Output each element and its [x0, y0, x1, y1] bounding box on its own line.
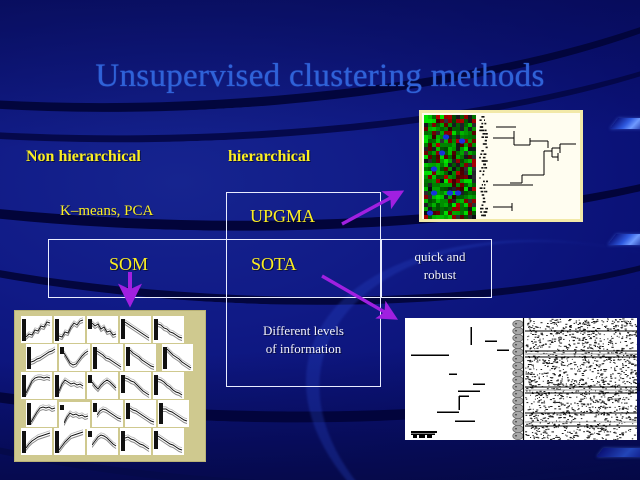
note-different-levels: Different levels of information — [232, 322, 375, 357]
som-cell — [54, 428, 85, 455]
heatmap-panel — [424, 115, 476, 219]
som-cell-profile — [97, 345, 123, 370]
som-cell-profile — [26, 429, 52, 454]
heatmap-cells — [424, 115, 476, 219]
som-cell — [153, 428, 184, 455]
som-cell — [120, 316, 151, 343]
som-cell — [54, 372, 85, 399]
som-cell — [120, 428, 151, 455]
figure-sota-tree — [405, 318, 637, 440]
figure-som-grid — [14, 310, 206, 462]
som-cell — [26, 344, 57, 371]
dendrogram-panel — [488, 115, 582, 219]
som-cell-profile — [167, 345, 193, 370]
note-levels-line1: Different levels — [232, 322, 375, 340]
som-cell — [125, 400, 156, 427]
som-cell — [153, 316, 184, 343]
page-title: Unsupervised clustering methods — [0, 58, 640, 95]
second-row-divider — [381, 239, 382, 298]
som-cell-profile — [64, 403, 90, 428]
som-cell-profile — [92, 317, 118, 342]
som-cell — [59, 344, 90, 371]
slide-canvas: Unsupervised clustering methods Non hier… — [0, 0, 640, 480]
som-cell-profile — [31, 345, 57, 370]
som-cell — [26, 400, 57, 427]
som-cell — [87, 428, 118, 455]
cell-upgma: UPGMA — [250, 206, 315, 227]
som-cell-profile — [158, 429, 184, 454]
som-cell-profile — [125, 373, 151, 398]
som-cell-profile — [130, 345, 156, 370]
som-cell — [54, 316, 85, 343]
edge-ribbon-accent-bottom — [596, 448, 640, 457]
heatmap-gene-labels — [478, 115, 488, 219]
sota-node-markers — [511, 318, 525, 440]
som-cell-profile — [158, 373, 184, 398]
som-cell-profile — [26, 373, 52, 398]
note-levels-line2: of information — [232, 340, 375, 358]
som-cell-profile — [26, 317, 52, 342]
figure-heatmap-dendrogram — [419, 110, 583, 222]
som-cell — [120, 372, 151, 399]
som-cell-profile — [31, 401, 57, 426]
sota-tree-lines — [405, 318, 515, 440]
expression-noise — [525, 318, 637, 440]
cell-sota: SOTA — [251, 254, 297, 275]
som-cell-profile — [130, 401, 156, 426]
som-cell-profile — [64, 345, 90, 370]
som-cell — [87, 372, 118, 399]
som-cell-profile — [125, 429, 151, 454]
cell-som: SOM — [109, 254, 148, 275]
som-cell-profile — [125, 317, 151, 342]
som-cell-profile — [59, 373, 85, 398]
som-cell-profile — [163, 401, 189, 426]
som-cell — [92, 344, 123, 371]
som-cell-profile — [97, 401, 123, 426]
cell-kmeans-pca: K–means, PCA — [60, 203, 153, 220]
som-cell — [59, 402, 90, 429]
som-cell — [87, 316, 118, 343]
dendrogram-lines — [488, 115, 582, 219]
som-cell — [153, 372, 184, 399]
som-cell-profile — [92, 429, 118, 454]
note-quick-and-robust: quick and robust — [390, 248, 490, 283]
som-cell-profile — [59, 429, 85, 454]
som-cell — [92, 400, 123, 427]
som-cell-profile — [92, 373, 118, 398]
som-cell — [158, 400, 189, 427]
som-cell — [21, 428, 52, 455]
sota-expression-panel — [525, 318, 637, 440]
som-cell — [21, 316, 52, 343]
som-cell — [125, 344, 156, 371]
som-cell — [21, 372, 52, 399]
column-heading-non-hierarchical: Non hierarchical — [26, 148, 141, 166]
note-quick-line1: quick and — [390, 248, 490, 266]
column-heading-hierarchical: hierarchical — [228, 148, 310, 166]
som-cell-profile — [59, 317, 85, 342]
som-cell — [162, 344, 193, 371]
note-quick-line2: robust — [390, 266, 490, 284]
som-cell-profile — [158, 317, 184, 342]
